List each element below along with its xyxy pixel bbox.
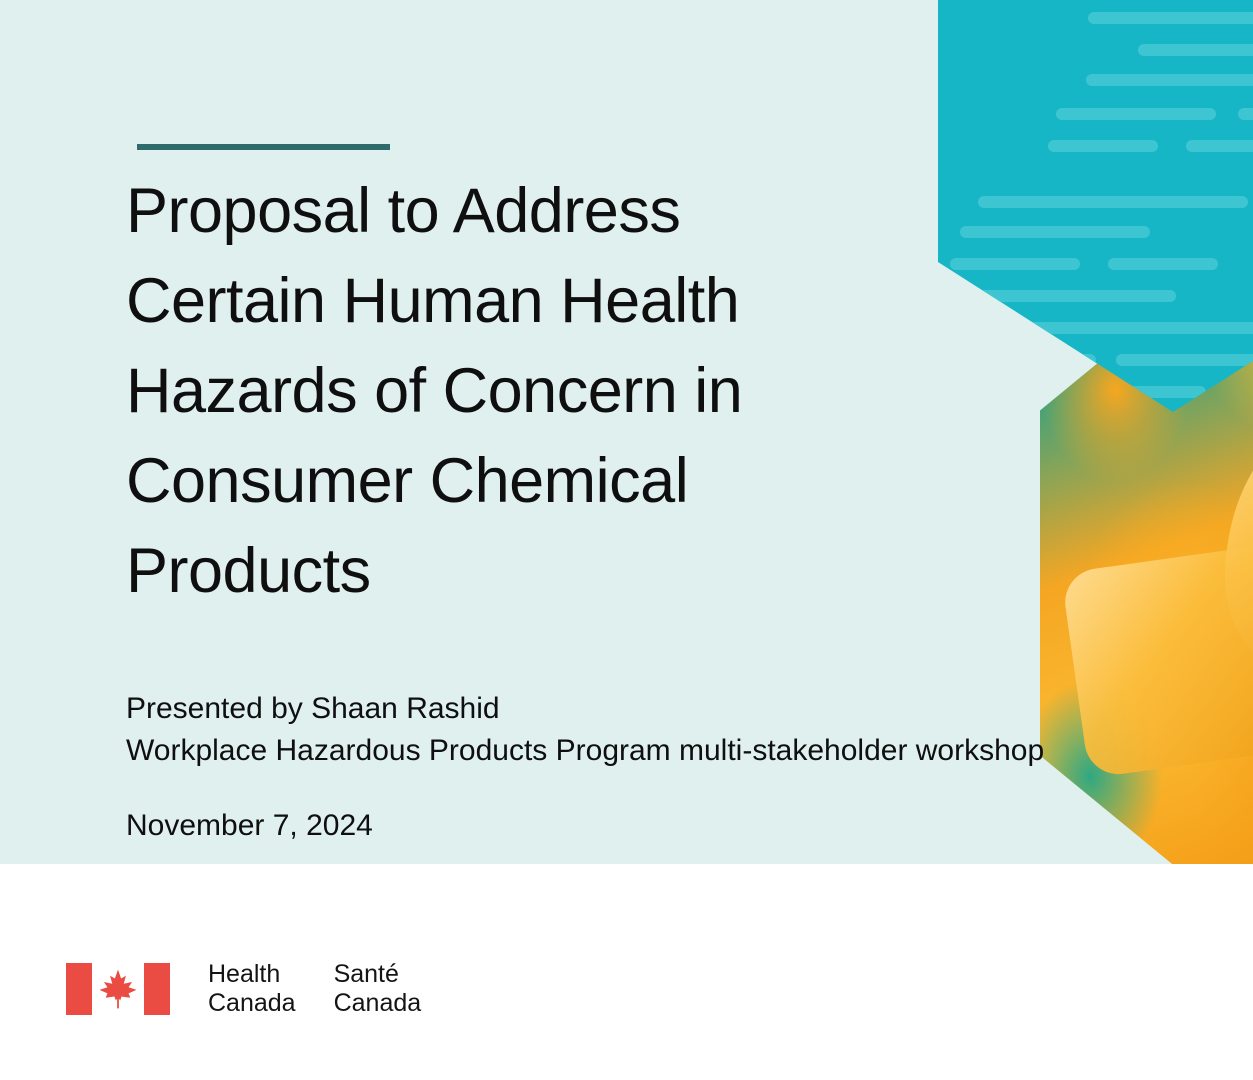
wordmark-english: Health Canada bbox=[208, 960, 296, 1018]
health-canada-wordmark: Health Canada Santé Canada bbox=[66, 960, 421, 1018]
wordmark-english-line1: Health bbox=[208, 960, 296, 989]
wordmark-french-line1: Santé bbox=[334, 960, 422, 989]
wordmark-english-line2: Canada bbox=[208, 989, 296, 1018]
page-title: Proposal to Address Certain Human Health… bbox=[126, 166, 886, 616]
event-line: Workplace Hazardous Products Program mul… bbox=[126, 730, 1186, 772]
title-slide: Proposal to Address Certain Human Health… bbox=[0, 0, 1253, 1080]
maple-leaf-icon bbox=[96, 966, 140, 1012]
presentation-date: November 7, 2024 bbox=[126, 806, 373, 846]
canada-flag-icon bbox=[66, 963, 170, 1015]
wordmark-french-line2: Canada bbox=[334, 989, 422, 1018]
wordmark-french: Santé Canada bbox=[334, 960, 422, 1018]
presenter-line: Presented by Shaan Rashid bbox=[126, 688, 1186, 730]
wordmark-text: Health Canada Santé Canada bbox=[208, 960, 421, 1018]
flag-bar-left bbox=[66, 963, 92, 1015]
byline: Presented by Shaan Rashid Workplace Haza… bbox=[126, 688, 1186, 772]
flag-bar-right bbox=[144, 963, 170, 1015]
title-accent-rule bbox=[137, 144, 390, 150]
